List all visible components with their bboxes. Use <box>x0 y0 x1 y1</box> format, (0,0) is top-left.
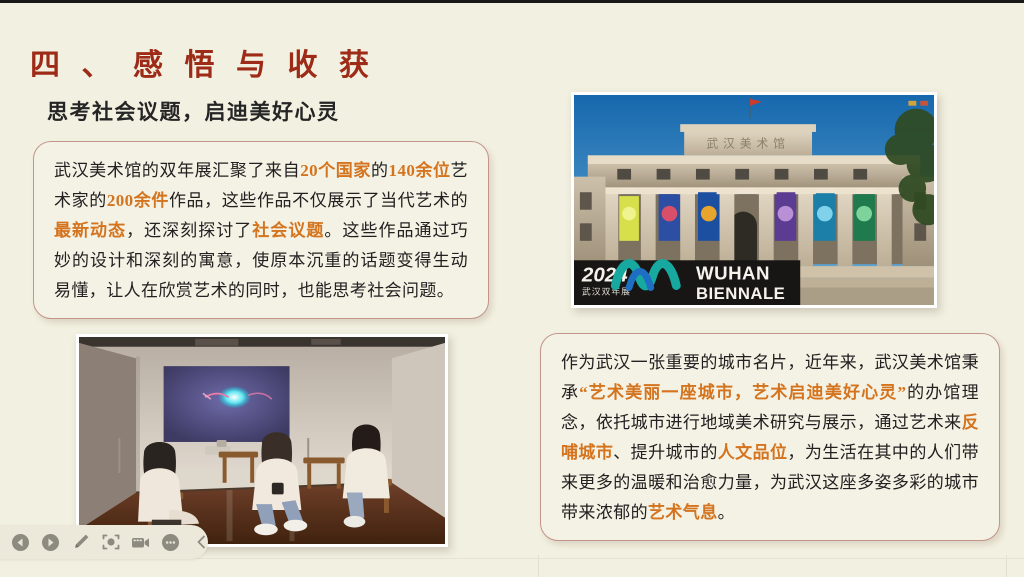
body-text: 作品，这些作品不仅展示了当代艺术的 <box>169 191 468 210</box>
highlighted-text: 人文品位 <box>718 443 788 462</box>
more-options-button[interactable] <box>160 532 181 553</box>
focus-frame-icon <box>101 532 121 552</box>
body-text: 。 <box>718 503 735 522</box>
next-slide-button[interactable] <box>40 532 61 553</box>
biennale-summary-card: 武汉美术馆的双年展汇聚了来自20个国家的140余位艺术家的200余件作品，这些作… <box>33 141 489 319</box>
page-title: 四 、 感 悟 与 收 获 <box>30 40 376 84</box>
pencil-icon <box>71 532 91 552</box>
city-card-card: 作为武汉一张重要的城市名片，近年来，武汉美术馆秉承“艺术美丽一座城市，艺术启迪美… <box>540 333 1000 541</box>
highlighted-text: 最新动态 <box>54 221 126 240</box>
page-subtitle: 思考社会议题，启迪美好心灵 <box>47 96 340 126</box>
slide-canvas: 四 、 感 悟 与 收 获 思考社会议题，启迪美好心灵 武汉美术馆的双年展汇聚了… <box>0 3 1024 577</box>
highlighted-text: 艺术气息 <box>648 503 718 522</box>
svg-text:武汉美术馆: 武汉美术馆 <box>706 137 790 151</box>
more-dots-icon <box>161 533 180 552</box>
body-text: 的 <box>371 161 389 180</box>
highlighted-text: 200余件 <box>107 191 169 210</box>
top-edge-strip <box>0 0 1024 3</box>
presentation-toolbar[interactable] <box>0 525 208 559</box>
body-text: ，还深刻探讨了 <box>126 221 252 240</box>
chevron-left-icon <box>193 533 209 551</box>
svg-text:武汉双年展: 武汉双年展 <box>582 285 631 296</box>
highlighted-text: 140余位 <box>389 161 451 180</box>
biennale-summary-text: 武汉美术馆的双年展汇聚了来自20个国家的140余位艺术家的200余件作品，这些作… <box>54 156 468 306</box>
gallery-video-viewing-photo <box>76 334 448 547</box>
body-text: 、提升城市的 <box>613 443 718 462</box>
collapse-toolbar-button[interactable] <box>190 532 211 553</box>
wuhan-art-museum-photo: 武汉美术馆 <box>571 92 937 308</box>
highlighted-text: “艺术美丽一座城市，艺术启迪美好心灵” <box>579 383 906 402</box>
pen-tool-button[interactable] <box>70 532 91 553</box>
back-arrow-icon <box>11 533 30 552</box>
body-text: 武汉美术馆的双年展汇聚了来自 <box>54 161 300 180</box>
video-camera-icon <box>130 532 151 552</box>
previous-slide-button[interactable] <box>10 532 31 553</box>
record-button[interactable] <box>130 532 151 553</box>
focus-tool-button[interactable] <box>100 532 121 553</box>
forward-arrow-icon <box>41 533 60 552</box>
highlighted-text: 社会议题 <box>252 221 324 240</box>
svg-text:WUHAN: WUHAN <box>696 263 770 284</box>
svg-text:BIENNALE: BIENNALE <box>696 284 785 303</box>
highlighted-text: 20个国家 <box>300 161 371 180</box>
city-card-text: 作为武汉一张重要的城市名片，近年来，武汉美术馆秉承“艺术美丽一座城市，艺术启迪美… <box>561 348 979 528</box>
